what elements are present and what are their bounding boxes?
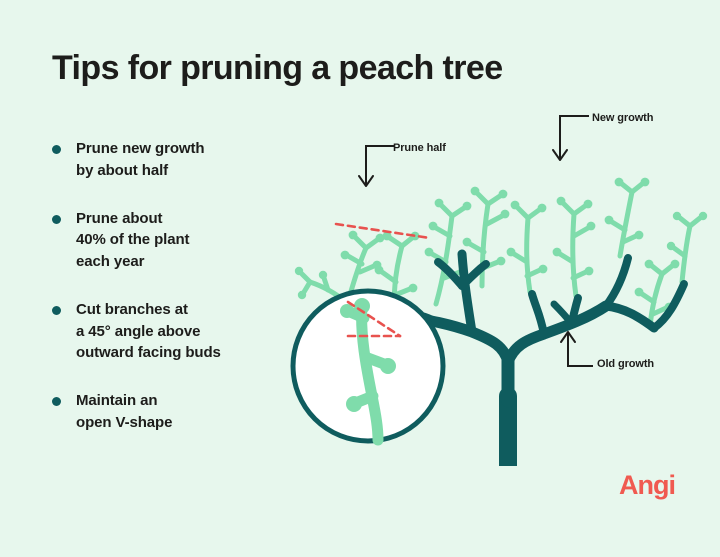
infographic-poster: Tips for pruning a peach tree Prune new … <box>0 0 720 557</box>
prune-half-elbow-arrow <box>359 146 393 186</box>
tips-list: Prune new growth by about half Prune abo… <box>52 138 302 460</box>
annotation-label-old-growth: Old growth <box>597 358 654 370</box>
magnifier-inset <box>293 291 443 441</box>
new-growth-elbow-arrow <box>553 116 588 160</box>
list-item-label: Prune about 40% of the plant each year <box>76 210 189 271</box>
page-title: Tips for pruning a peach tree <box>52 50 503 87</box>
annotation-label-new-growth: New growth <box>592 112 653 124</box>
list-item: Prune about 40% of the plant each year <box>52 208 302 273</box>
bullet-dot-icon <box>52 306 61 315</box>
bullet-dot-icon <box>52 215 61 224</box>
list-item-label: Maintain an open V-shape <box>76 392 172 431</box>
list-item-label: Prune new growth by about half <box>76 140 204 179</box>
list-item-label: Cut branches at a 45° angle above outwar… <box>76 301 221 362</box>
list-item: Maintain an open V-shape <box>52 390 302 434</box>
peach-tree-illustration <box>276 96 720 466</box>
list-item: Prune new growth by about half <box>52 138 302 182</box>
angi-logo: Angi <box>619 472 675 499</box>
bullet-dot-icon <box>52 397 61 406</box>
list-item: Cut branches at a 45° angle above outwar… <box>52 299 302 364</box>
annotation-label-prune-half: Prune half <box>393 142 446 154</box>
bullet-dot-icon <box>52 145 61 154</box>
old-growth-elbow-arrow <box>561 332 592 366</box>
